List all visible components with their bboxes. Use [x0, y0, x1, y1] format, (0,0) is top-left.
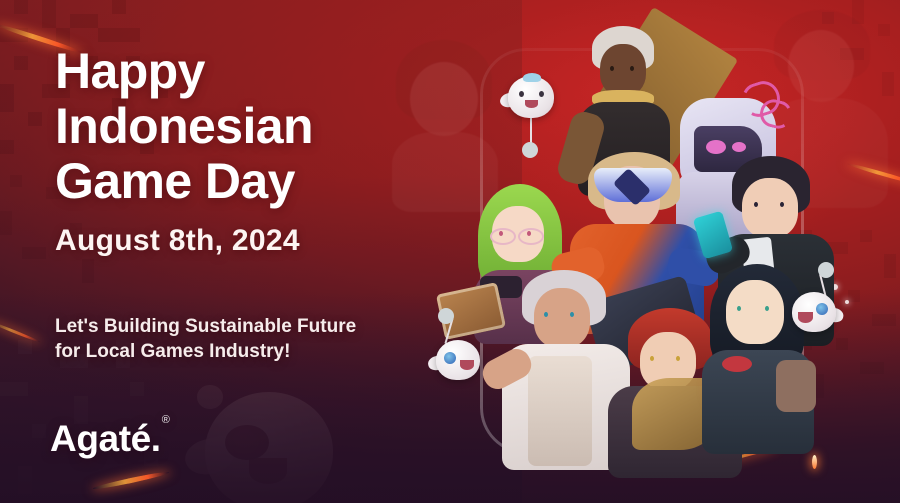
- ghost-mascot-right: [792, 292, 836, 332]
- ghost-mascot-top: [508, 76, 554, 118]
- tagline-line-2: for Local Games Industry!: [55, 339, 356, 364]
- tagline: Let's Building Sustainable Future for Lo…: [55, 314, 356, 364]
- ghost-mascot-left: [436, 340, 480, 380]
- logo-wordmark: Agaté.: [50, 418, 161, 459]
- poster-canvas: Happy Indonesian Game Day August 8th, 20…: [0, 0, 900, 503]
- character-illustration-cluster: [418, 8, 878, 478]
- headline-line-2: Indonesian: [55, 99, 313, 154]
- registered-trademark-icon: ®: [162, 414, 170, 426]
- headline-line-3: Game Day: [55, 154, 313, 209]
- event-date: August 8th, 2024: [55, 224, 300, 258]
- page-title: Happy Indonesian Game Day: [55, 44, 313, 209]
- agate-logo: Agaté.®: [50, 414, 169, 460]
- headline-line-1: Happy: [55, 44, 313, 99]
- tagline-line-1: Let's Building Sustainable Future: [55, 314, 356, 339]
